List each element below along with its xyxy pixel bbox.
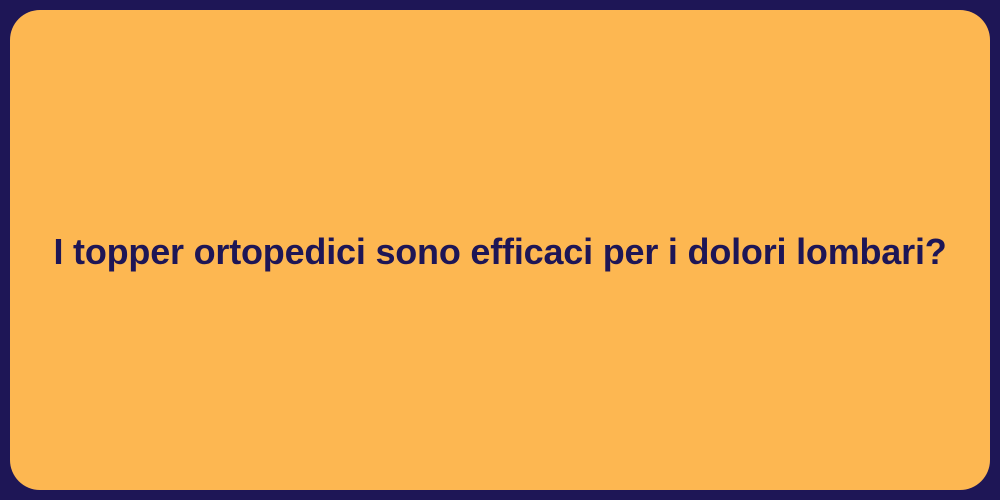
banner-headline: I topper ortopedici sono efficaci per i … xyxy=(53,229,946,274)
headline-container: I topper ortopedici sono efficaci per i … xyxy=(10,10,990,490)
banner-canvas: I topper ortopedici sono efficaci per i … xyxy=(0,0,1000,500)
banner-card: I topper ortopedici sono efficaci per i … xyxy=(10,10,990,490)
